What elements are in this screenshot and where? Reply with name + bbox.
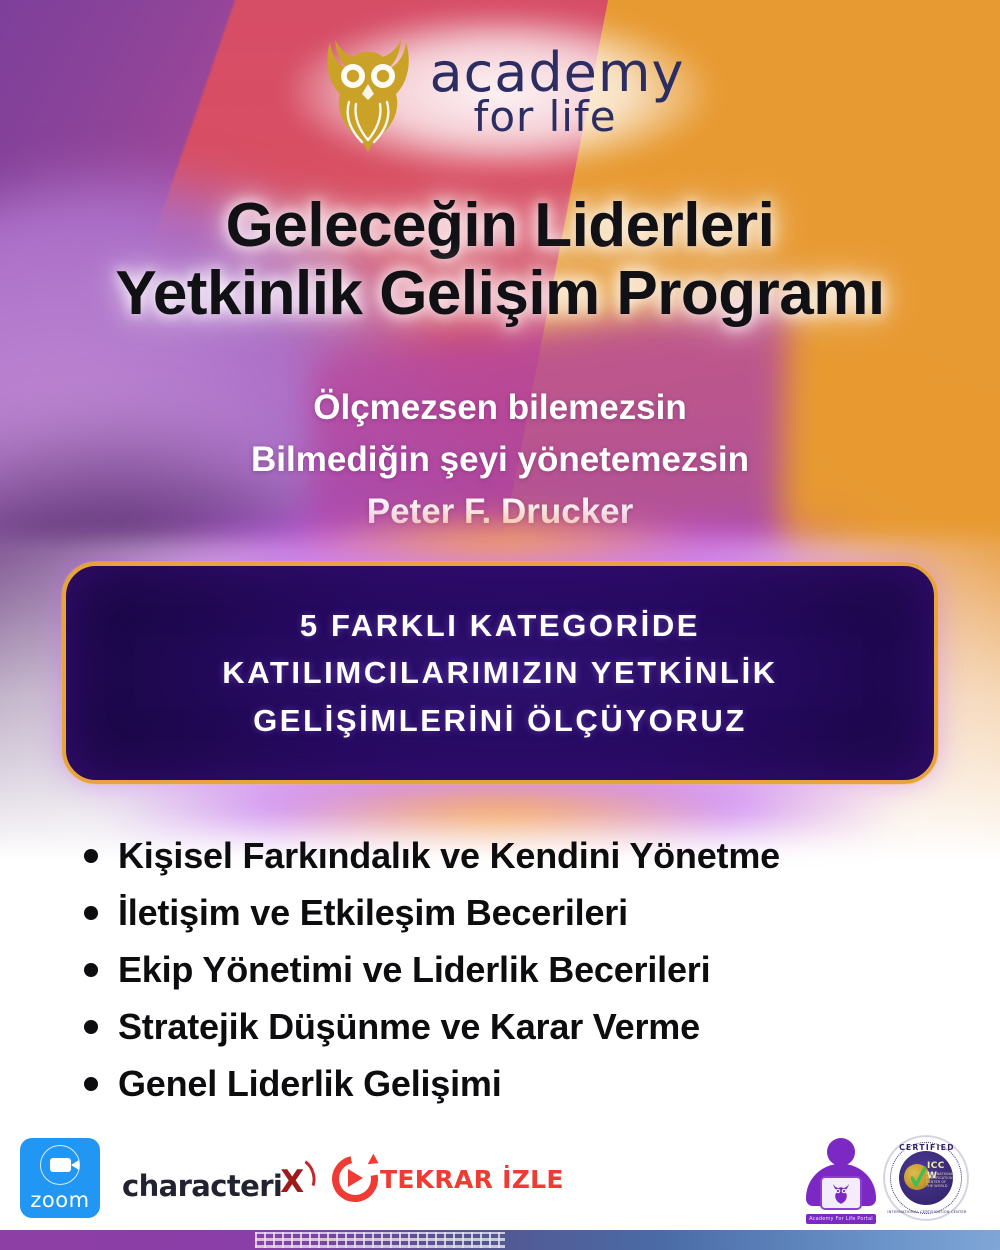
category-list: Kişisel Farkındalık ve Kendini Yönetme İ… xyxy=(78,838,958,1123)
tekrar-izle-label: TEKRAR İZLE xyxy=(380,1165,564,1194)
list-item: Kişisel Farkındalık ve Kendini Yönetme xyxy=(78,838,958,874)
owl-icon xyxy=(830,1182,852,1204)
list-item-label: Stratejik Düşünme ve Karar Verme xyxy=(118,1009,700,1045)
brand-wordmark: academy for life xyxy=(430,47,685,137)
bullet-dot-icon xyxy=(84,963,98,977)
banner-line-3: GELİŞİMLERİNİ ÖLÇÜYORUZ xyxy=(222,697,778,744)
banner-line-2: KATILIMCILARIMIZIN YETKİNLİK xyxy=(222,649,778,696)
seal-subtitle-label: INTERNATIONAL CERTIFICATION CENTER OF TH… xyxy=(926,1172,953,1188)
headline-line-1: Geleceğin Liderleri xyxy=(226,191,775,260)
bullet-dot-icon xyxy=(84,849,98,863)
banner-box: 5 FARKLI KATEGORİDE KATILIMCILARIMIZIN Y… xyxy=(62,562,938,784)
zoom-logo: zoom xyxy=(20,1138,100,1218)
strip-dot-pattern xyxy=(255,1232,505,1248)
tekrar-izle-logo: TEKRAR İZLE xyxy=(332,1156,564,1202)
seal-inner-disc: ICC W INTERNATIONAL CERTIFICATION CENTER… xyxy=(899,1151,953,1205)
replay-play-icon xyxy=(332,1156,378,1202)
poster-root: academy for life Geleceğin Liderleri Yet… xyxy=(0,0,1000,1250)
page-title: Geleceğin Liderleri Yetkinlik Gelişim Pr… xyxy=(0,192,1000,328)
list-item: Genel Liderlik Gelişimi xyxy=(78,1066,958,1102)
brand-logo: academy for life xyxy=(0,26,1000,158)
characterix-x-mark-icon: X xyxy=(280,1162,314,1196)
list-item: Ekip Yönetimi ve Liderlik Becerileri xyxy=(78,952,958,988)
list-item-label: Kişisel Farkındalık ve Kendini Yönetme xyxy=(118,838,780,874)
brand-name-line2: for life xyxy=(474,96,685,137)
footer-logos: zoom characteri X TEKRAR İZLE xyxy=(0,1128,1000,1228)
list-item: Stratejik Düşünme ve Karar Verme xyxy=(78,1009,958,1045)
characterix-logo: characteri X xyxy=(122,1162,314,1203)
camera-body-icon xyxy=(50,1158,71,1172)
banner-text: 5 FARKLI KATEGORİDE KATILIMCILARIMIZIN Y… xyxy=(222,602,778,743)
list-item-label: Ekip Yönetimi ve Liderlik Becerileri xyxy=(118,952,710,988)
quote-line-1: Ölçmezsen bilemezsin xyxy=(0,382,1000,434)
quote-line-2: Bilmediğin şeyi yönetemezsin xyxy=(0,434,1000,486)
bullet-dot-icon xyxy=(84,906,98,920)
list-item-label: İletişim ve Etkileşim Becerileri xyxy=(118,895,628,931)
owl-icon xyxy=(316,32,420,152)
bottom-color-strip xyxy=(0,1230,1000,1250)
academy-portal-badge: Academy For Life Portal xyxy=(806,1136,876,1224)
headline-line-2: Yetkinlik Gelişim Programı xyxy=(0,260,1000,328)
bullet-dot-icon xyxy=(84,1077,98,1091)
characterix-label: characteri xyxy=(122,1169,282,1203)
icc-certified-seal: CERTIFIED ICC W INTERNATIONAL CERTIFICAT… xyxy=(884,1136,968,1220)
seal-bottom-label: INTERNATIONAL CERTIFICATION CENTER xyxy=(885,1210,969,1214)
portal-badge-caption: Academy For Life Portal xyxy=(806,1214,876,1224)
list-item-label: Genel Liderlik Gelişimi xyxy=(118,1066,502,1102)
video-camera-icon xyxy=(40,1145,80,1185)
bullet-dot-icon xyxy=(84,1020,98,1034)
check-mark-icon xyxy=(911,1165,926,1189)
person-head-icon xyxy=(827,1138,855,1166)
list-item: İletişim ve Etkileşim Becerileri xyxy=(78,895,958,931)
zoom-label: zoom xyxy=(30,1188,89,1212)
banner-line-1: 5 FARKLI KATEGORİDE xyxy=(222,602,778,649)
play-triangle-icon xyxy=(348,1169,363,1187)
quote-block: Ölçmezsen bilemezsin Bilmediğin şeyi yön… xyxy=(0,382,1000,537)
open-book-icon xyxy=(822,1178,860,1208)
highlight-banner: 5 FARKLI KATEGORİDE KATILIMCILARIMIZIN Y… xyxy=(62,562,938,784)
